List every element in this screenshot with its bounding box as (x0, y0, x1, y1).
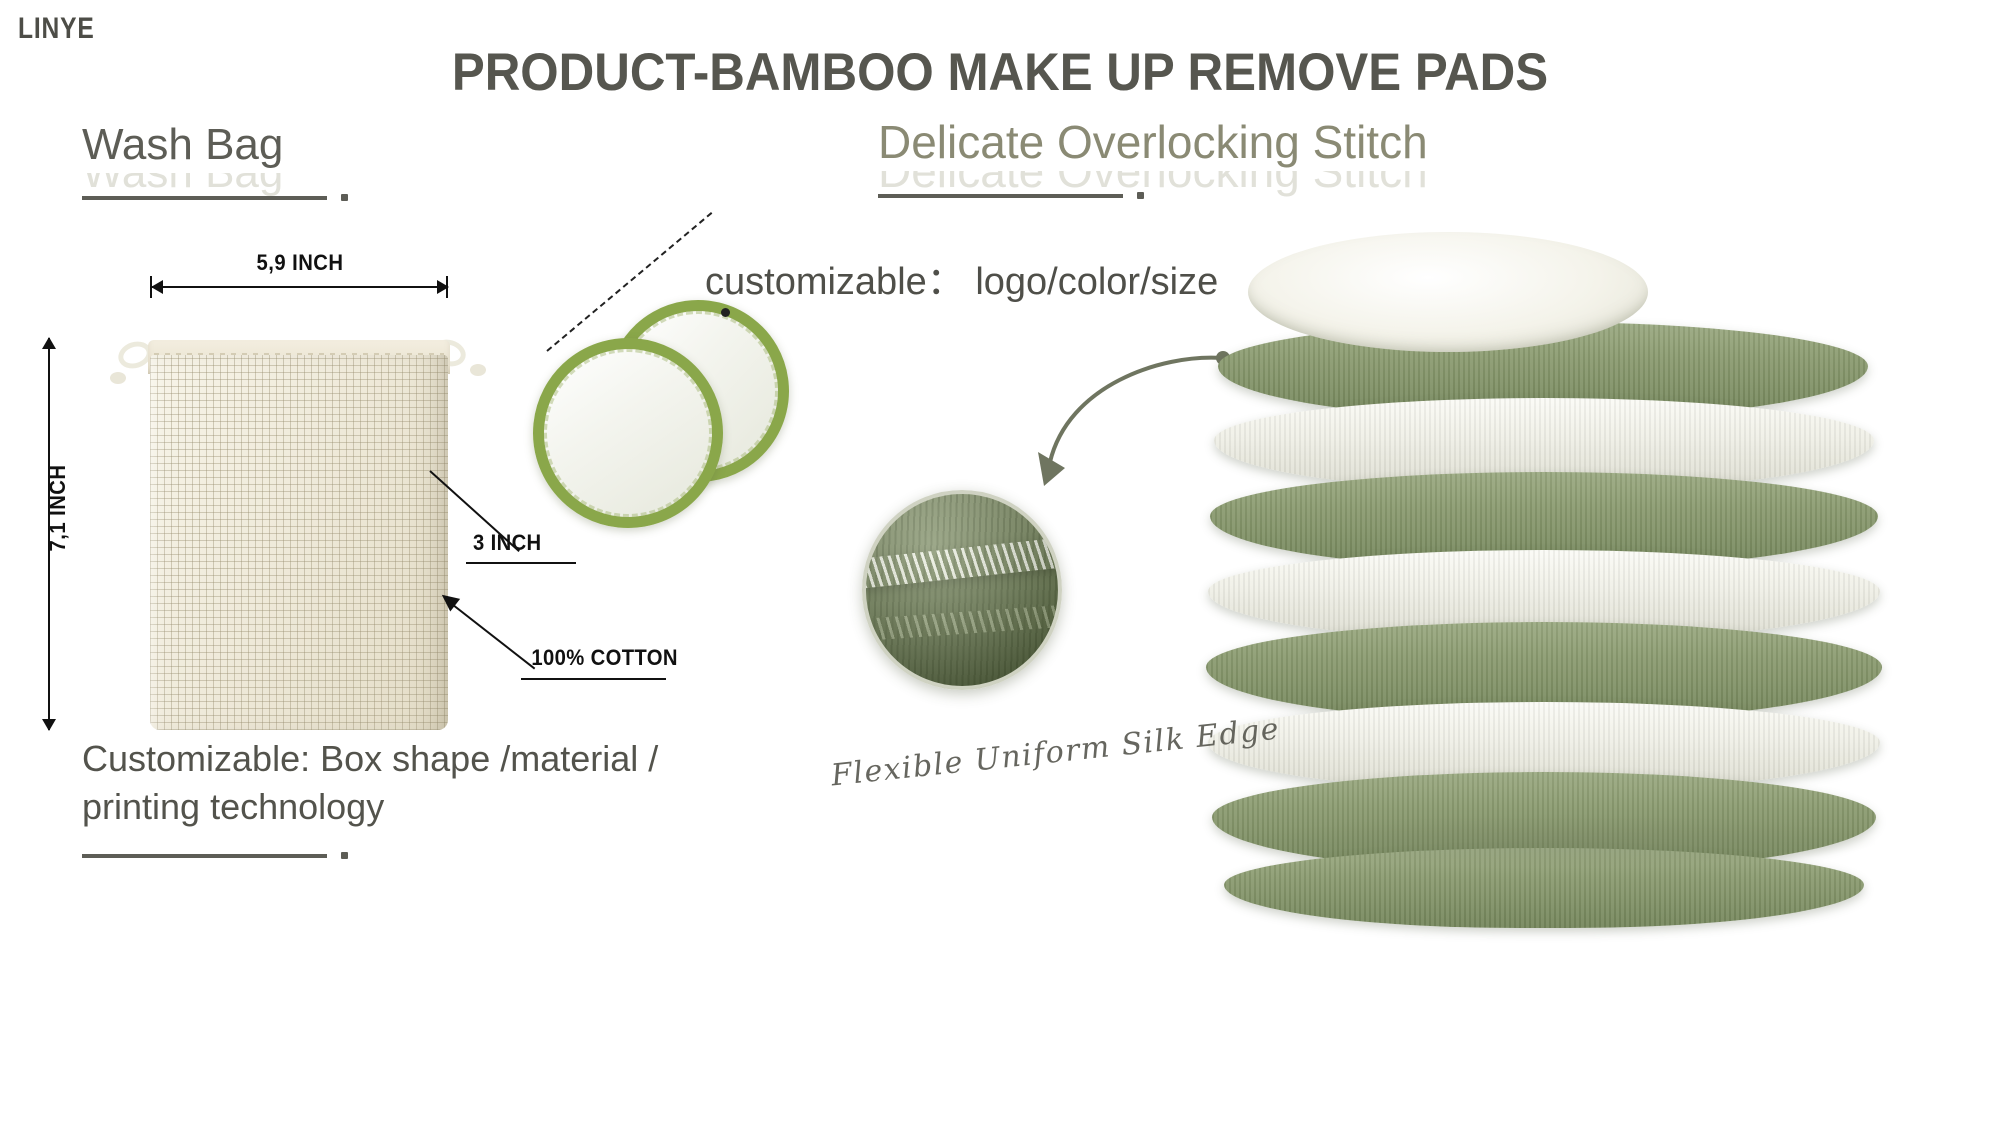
underline-dot (341, 194, 348, 201)
customizable-underline (82, 852, 782, 859)
underline-dot (341, 852, 348, 859)
material-label-rule (521, 678, 666, 680)
page-title: PRODUCT-BAMBOO MAKE UP REMOVE PADS (70, 42, 1930, 103)
width-dimension-arrow (152, 286, 448, 288)
customizable-options-text: customizable： logo/color/size (705, 250, 1218, 305)
bag-width-label: 5,9 INCH (171, 250, 429, 276)
bag-height-label: 7,1 INCH (45, 434, 71, 581)
stack-top-disc-face (1248, 232, 1648, 352)
material-label: 100% COTTON (531, 645, 678, 671)
pad-diameter-endpoint (721, 308, 730, 317)
section-heading-wash-bag: Wash Bag Wash Bag (82, 122, 348, 201)
stitch-detail-closeup (862, 490, 1062, 690)
pad-diameter-label-rule (466, 562, 576, 564)
customizable-box-text: Customizable: Box shape /material / prin… (82, 735, 782, 830)
drawstring-tip-right (470, 364, 486, 376)
bag-mesh-body (150, 355, 448, 730)
drawstring-tip-left (110, 372, 126, 384)
closeup-shading (866, 494, 1058, 686)
customizable-box-block: Customizable: Box shape /material / prin… (82, 735, 782, 859)
cotton-pads-illustration (525, 290, 825, 590)
stack-ground-shadow (1255, 815, 1875, 867)
underline-rule (82, 854, 327, 858)
slide-canvas: LINYE PRODUCT-BAMBOO MAKE UP REMOVE PADS… (0, 0, 2000, 1125)
wash-bag-illustration: 5,9 INCH 7,1 INCH (40, 300, 510, 770)
pad-stitch-ring (536, 341, 721, 526)
section-heading-overlocking-stitch: Delicate Overlocking Stitch Delicate Ove… (878, 118, 1428, 199)
wash-bag-heading-text: Wash Bag (82, 122, 348, 168)
brand-logo: LINYE (18, 12, 95, 46)
pad-diameter-label: 3 INCH (473, 530, 542, 556)
stitch-heading-text: Delicate Overlocking Stitch (878, 118, 1428, 166)
